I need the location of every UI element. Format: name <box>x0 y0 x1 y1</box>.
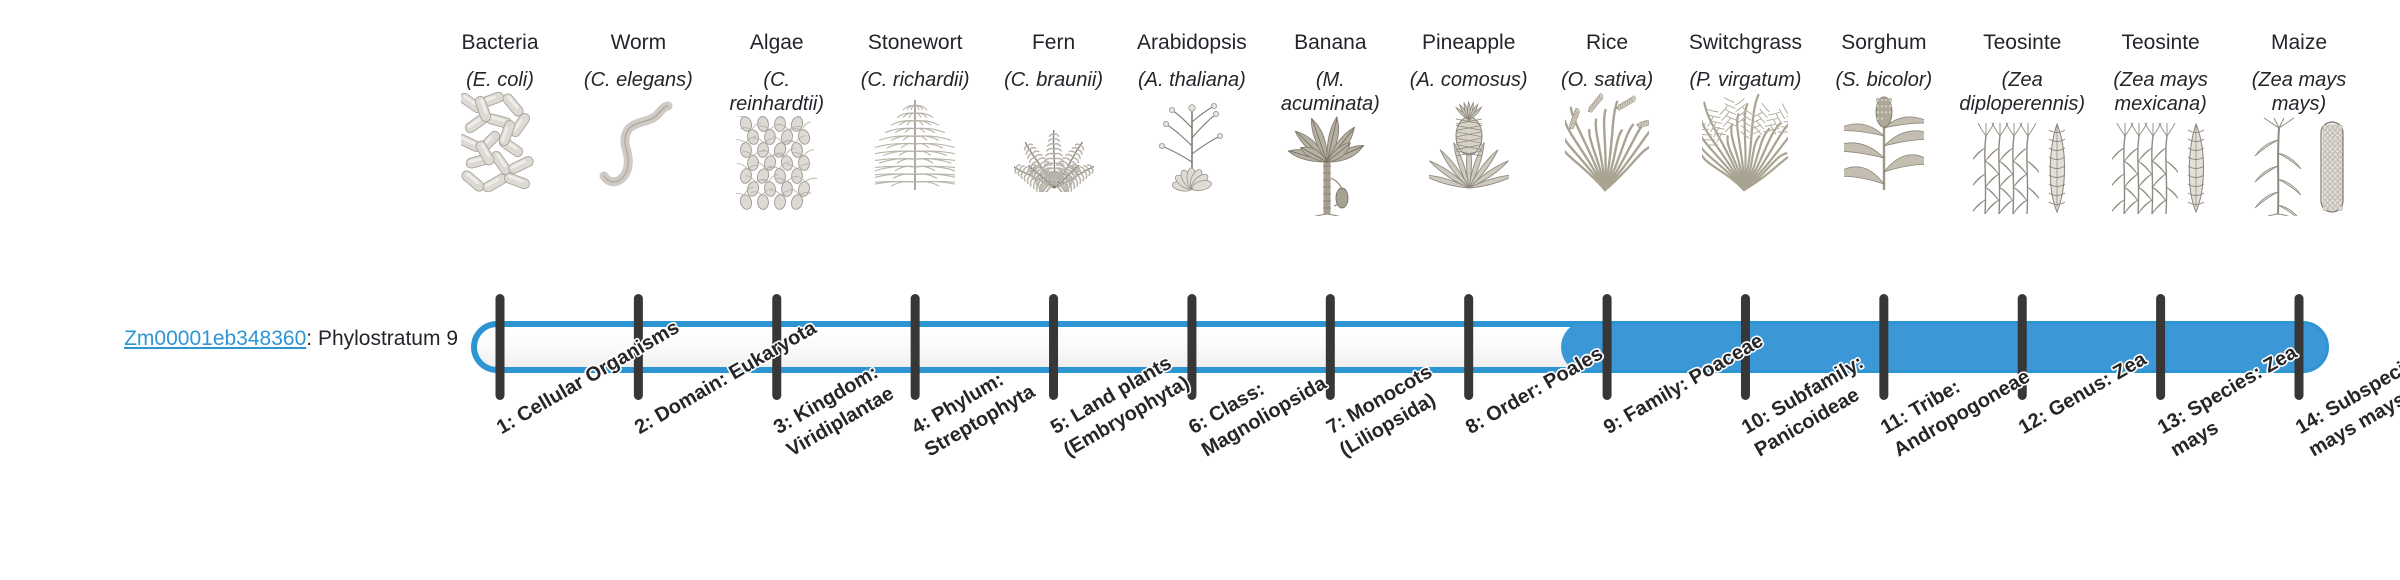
rank-number: 4: <box>908 411 934 439</box>
rank-number: 12: <box>2015 405 2051 439</box>
rank-number: 9: <box>1600 411 1626 439</box>
rank-text: Phylum: Streptophyta <box>921 369 1039 462</box>
rank-labels: 1: Cellular Organisms2: Domain: Eukaryot… <box>0 0 2400 580</box>
rank-text: Species: Zea mays <box>2167 341 2301 461</box>
rank-text: Tribe: Andropogoneae <box>1890 366 2034 462</box>
phylostratum-figure: Zm00001eb348360: Phylostratum 9 Bacteria… <box>0 0 2400 580</box>
rank-number: 5: <box>1047 411 1073 439</box>
rank-text: Kingdom: Viridiplantae <box>783 361 898 461</box>
rank-number: 6: <box>1185 411 1211 439</box>
rank-number: 3: <box>770 411 796 439</box>
rank-text: Subfamily: Panicoideae <box>1751 351 1867 461</box>
rank-number: 8: <box>1462 411 1488 439</box>
rank-number: 1: <box>493 411 519 439</box>
rank-number: 2: <box>631 411 657 439</box>
rank-number: 7: <box>1323 411 1349 439</box>
rank-text: Class: Magnoliopsida <box>1198 372 1330 461</box>
